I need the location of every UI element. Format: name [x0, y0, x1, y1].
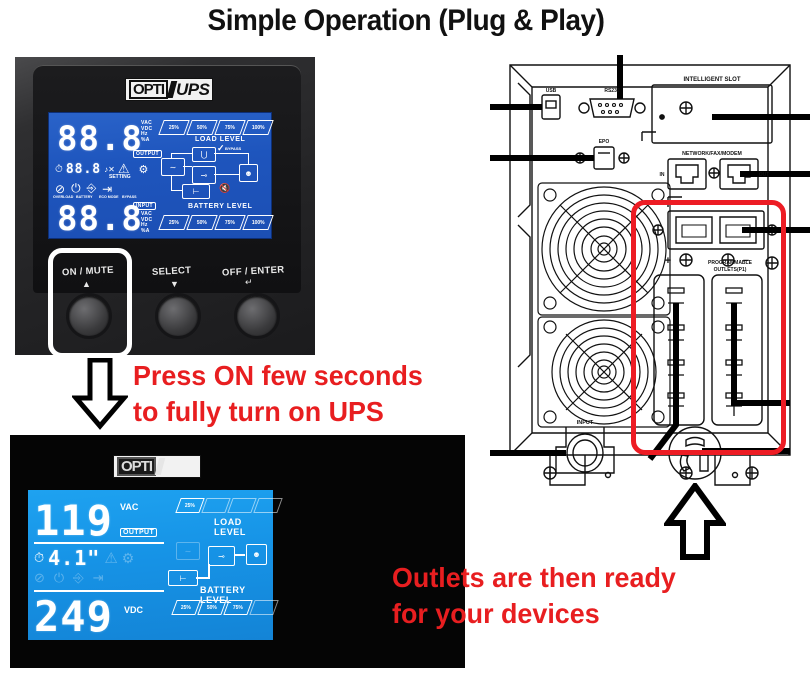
lit-eco-icon: ⎆ [73, 570, 83, 586]
select-button-label: SELECT [152, 265, 192, 278]
batt-tick-25: 25% [169, 220, 179, 226]
lit-output-tag: OUTPUT [120, 528, 157, 537]
ac-input-icon: ∼ [161, 158, 185, 176]
batt-tick-100: 100% [252, 220, 265, 226]
bypass-path-icon: ⋃ [192, 147, 216, 162]
outlets-highlight-box [631, 200, 786, 455]
label-network: NETWORK/FAX/MODEM [682, 151, 742, 157]
load-tick-50: 50% [197, 125, 207, 131]
lcd-output-tag: OUTPUT [133, 150, 162, 158]
gear-setting-icon: ⚙ [138, 163, 148, 176]
mute-speaker-icon: 🔇 [219, 183, 230, 194]
lit-bypass-icon: ⇥ [93, 570, 104, 586]
lit-batt-tick-50: 50% [207, 605, 217, 611]
lcd-input-value: 88.8 [57, 199, 143, 239]
page-title: Simple Operation (Plug & Play) [28, 4, 783, 38]
battery-module-icon: ⊢ [182, 184, 210, 199]
load-tick-25: 25% [169, 125, 179, 131]
lcd-display-unlit: 88.8 VAC VDC Hz %A OUTPUT ⏱ 88.8 ♪✕ ⚠ ⚙ … [48, 112, 272, 239]
logo-lit-ups-text: UPS [164, 458, 197, 475]
overload-icon: ⊘ [55, 182, 65, 196]
lcd-setting-tag: SETTING [109, 174, 131, 180]
battery-level-bars: 25% 50% 75% 100% [161, 215, 271, 230]
logo-lit-opti-text: OPTI [117, 457, 156, 476]
lit-battery-level-bars: 25% 50% 75% [174, 600, 276, 615]
speaker-mute-icon: ♪✕ [104, 165, 115, 174]
opti-ups-logo: OPTI UPS [125, 78, 213, 101]
lit-inverter-icon: ⊸ [208, 546, 235, 566]
off-enter-button[interactable] [234, 293, 280, 339]
label-network-in: IN [660, 172, 665, 178]
lit-battery-module-icon: ⊢ [168, 570, 198, 586]
unit2-pa: %A [141, 229, 152, 235]
battery-level-label: BATTERY LEVEL [188, 203, 252, 210]
logo-ups-text: UPS [176, 81, 209, 98]
instruction-press-on: Press ON few seconds to fully turn on UP… [133, 358, 423, 430]
lit-batt-tick-75: 75% [233, 605, 243, 611]
label-usb: USB [546, 88, 557, 94]
instruction-2-line-1: Outlets are then ready [392, 560, 676, 596]
select-button[interactable] [155, 293, 201, 339]
batt-tick-50: 50% [197, 220, 207, 226]
eco-gauge-icon: ⎆ [87, 181, 97, 196]
inverter-icon: ⊸ [192, 166, 216, 184]
flow-bypass-tag: BYPASS [225, 146, 241, 151]
load-tick-100: 100% [252, 125, 265, 131]
lit-output-value: 119 [34, 496, 113, 545]
outlet-icon: ☻ [239, 164, 258, 182]
lit-load-tick-25: 25% [185, 503, 195, 509]
lcd-timer-value: 88.8 [66, 162, 101, 177]
label-epo: EPO [599, 139, 610, 145]
instruction-outlets-ready: Outlets are then ready for your devices [392, 560, 676, 632]
down-triangle-icon: ▼ [170, 279, 179, 289]
instruction-line-1: Press ON few seconds [133, 358, 423, 394]
clock-icon: ⏱ [55, 164, 63, 175]
instruction-2-line-2: for your devices [392, 596, 676, 632]
battery-icon: ⏻ [71, 181, 81, 196]
lit-warning-icon: ⚠ [104, 549, 117, 567]
up-arrow-icon [664, 483, 726, 561]
load-tick-75: 75% [225, 125, 235, 131]
lit-ac-input-icon: ∼ [176, 542, 200, 560]
lit-gear-icon: ⚙ [122, 550, 135, 567]
label-network-out: OUT [759, 172, 770, 178]
lit-batt-tick-25: 25% [181, 605, 191, 611]
lit-timer-value: 4.1" [48, 546, 100, 570]
enter-arrow-icon: ↵ [245, 277, 253, 288]
lit-battery-value: 249 [34, 592, 113, 641]
lit-battery-icon: ⏻ [54, 570, 64, 586]
on-button-highlight-box [48, 248, 132, 358]
load-level-label: LOAD LEVEL [195, 136, 245, 143]
lcd-output-value: 88.8 [57, 119, 143, 159]
logo-opti-text: OPTI [129, 80, 168, 99]
instruction-line-2: to fully turn on UPS [133, 394, 423, 430]
opti-ups-logo-lit: OPTI UPS [113, 455, 201, 478]
label-rs232: RS232 [604, 88, 620, 94]
lcd-display-lit: 119 VAC OUTPUT ⏱ 4.1" ⚠ ⚙ ⊘ ⏻ ⎆ ⇥ 249 VD… [28, 490, 273, 640]
unit-pa: %A [141, 138, 152, 144]
lit-clock-icon: ⏱ [34, 550, 44, 566]
down-arrow-icon [72, 358, 128, 430]
lit-load-level-bars: 25% [178, 498, 280, 513]
label-input: INPUT [577, 420, 594, 426]
lit-output-unit: VAC [120, 502, 138, 512]
lit-outlet-icon: ☻ [246, 544, 267, 565]
load-level-bars: 25% 50% 75% 100% [161, 120, 271, 135]
lit-load-level-label: LOAD LEVEL [214, 517, 273, 537]
label-intelligent-slot: INTELLIGENT SLOT [684, 77, 741, 83]
bypass-icon: ⇥ [102, 182, 112, 196]
lit-overload-icon: ⊘ [34, 570, 45, 586]
lit-battery-unit: VDC [124, 605, 143, 615]
batt-tick-75: 75% [225, 220, 235, 226]
